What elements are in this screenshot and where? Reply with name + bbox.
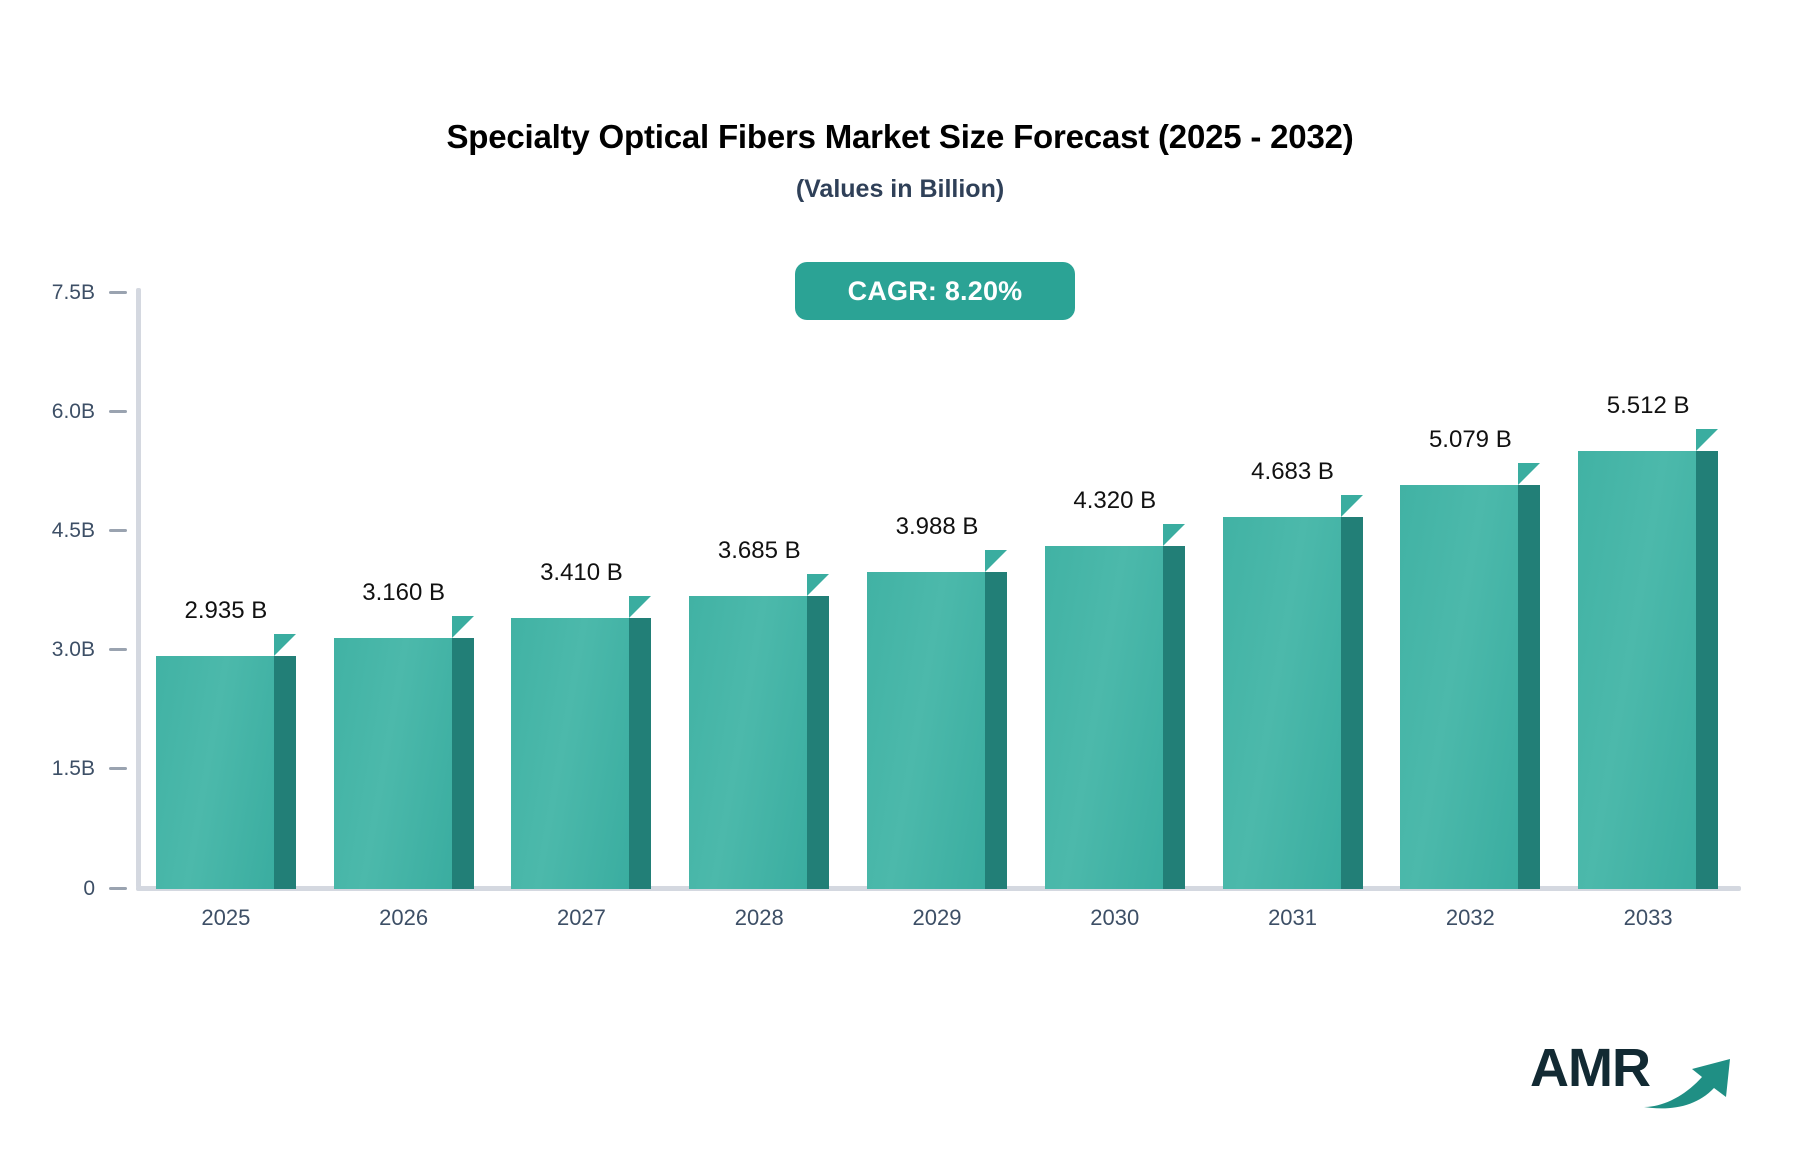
y-axis-tick-mark	[109, 529, 127, 532]
x-axis-tick-label: 2025	[166, 905, 286, 931]
bar-side-face	[1163, 546, 1185, 889]
bar-value-label: 3.410 B	[540, 561, 623, 585]
bar-group[interactable]: 3.160 B	[334, 617, 474, 890]
bar-group[interactable]: 5.512 B	[1578, 430, 1718, 890]
y-axis-tick-mark	[109, 291, 127, 294]
y-axis-tick-label: 4.5B	[52, 520, 95, 541]
bar-group[interactable]: 4.320 B	[1045, 525, 1185, 890]
bar-value-label: 4.683 B	[1251, 460, 1334, 484]
bar-top-bevel	[1696, 429, 1718, 451]
bar-front-face	[1223, 517, 1341, 889]
bar-front-face	[511, 618, 629, 889]
chart-title: Specialty Optical Fibers Market Size For…	[0, 118, 1800, 156]
bar-value-label: 2.935 B	[185, 599, 268, 623]
y-axis-tick-mark	[109, 410, 127, 413]
bar-group[interactable]: 2.935 B	[156, 635, 296, 890]
x-axis-tick-label: 2028	[699, 905, 819, 931]
bar-front-face	[1400, 485, 1518, 889]
bar-front-face	[689, 596, 807, 889]
bar-side-face	[1696, 451, 1718, 889]
bar-front-face	[1578, 451, 1696, 889]
bar-side-face	[985, 572, 1007, 889]
x-axis-tick-label: 2032	[1410, 905, 1530, 931]
bar-group[interactable]: 4.683 B	[1223, 496, 1363, 890]
bar-side-face	[1518, 485, 1540, 889]
y-axis-tick-mark	[109, 887, 127, 890]
bar-top-bevel	[985, 550, 1007, 572]
bar-front-face	[1045, 546, 1163, 889]
bar-top-bevel	[1163, 524, 1185, 546]
bar-side-face	[452, 638, 474, 889]
bar-value-label: 5.079 B	[1429, 428, 1512, 452]
bar-top-bevel	[452, 616, 474, 638]
bar-front-face	[156, 656, 274, 889]
y-axis-tick-mark	[109, 767, 127, 770]
bar-top-bevel	[1518, 463, 1540, 485]
bar-top-bevel	[274, 634, 296, 656]
growth-arrow-icon	[1642, 1049, 1740, 1111]
bar-value-label: 3.988 B	[896, 515, 979, 539]
y-axis-tick-mark	[109, 648, 127, 651]
bar-top-bevel	[629, 596, 651, 618]
bar-value-label: 5.512 B	[1607, 394, 1690, 418]
bar-value-label: 3.160 B	[362, 581, 445, 605]
x-axis-tick-label: 2026	[344, 905, 464, 931]
bar-value-label: 4.320 B	[1073, 489, 1156, 513]
bar-side-face	[629, 618, 651, 889]
bar-group[interactable]: 3.988 B	[867, 551, 1007, 890]
plot-area: 2.935 B3.160 B3.410 B3.685 B3.988 B4.320…	[137, 285, 1737, 889]
y-axis-tick-label: 7.5B	[52, 282, 95, 303]
amr-wordmark: AMR	[1530, 1041, 1650, 1095]
bar-side-face	[807, 596, 829, 889]
bar-value-label: 3.685 B	[718, 539, 801, 563]
x-axis-tick-label: 2027	[521, 905, 641, 931]
y-axis-tick-label: 6.0B	[52, 401, 95, 422]
bar-front-face	[867, 572, 985, 889]
y-axis-tick-label: 3.0B	[52, 639, 95, 660]
bar-group[interactable]: 3.410 B	[511, 597, 651, 890]
x-axis-tick-label: 2033	[1588, 905, 1708, 931]
x-axis-tick-label: 2029	[877, 905, 997, 931]
chart-container: Specialty Optical Fibers Market Size For…	[0, 0, 1800, 1156]
y-axis-tick-label: 0	[83, 878, 95, 899]
bar-side-face	[274, 656, 296, 889]
y-axis-tick-label: 1.5B	[52, 758, 95, 779]
x-axis-tick-label: 2031	[1233, 905, 1353, 931]
bar-group[interactable]: 3.685 B	[689, 575, 829, 890]
amr-logo: AMR	[1530, 1035, 1740, 1115]
chart-subtitle: (Values in Billion)	[0, 175, 1800, 204]
bar-side-face	[1341, 517, 1363, 889]
bar-top-bevel	[807, 574, 829, 596]
bar-front-face	[334, 638, 452, 889]
bar-group[interactable]: 5.079 B	[1400, 464, 1540, 890]
bar-top-bevel	[1341, 495, 1363, 517]
x-axis-tick-label: 2030	[1055, 905, 1175, 931]
